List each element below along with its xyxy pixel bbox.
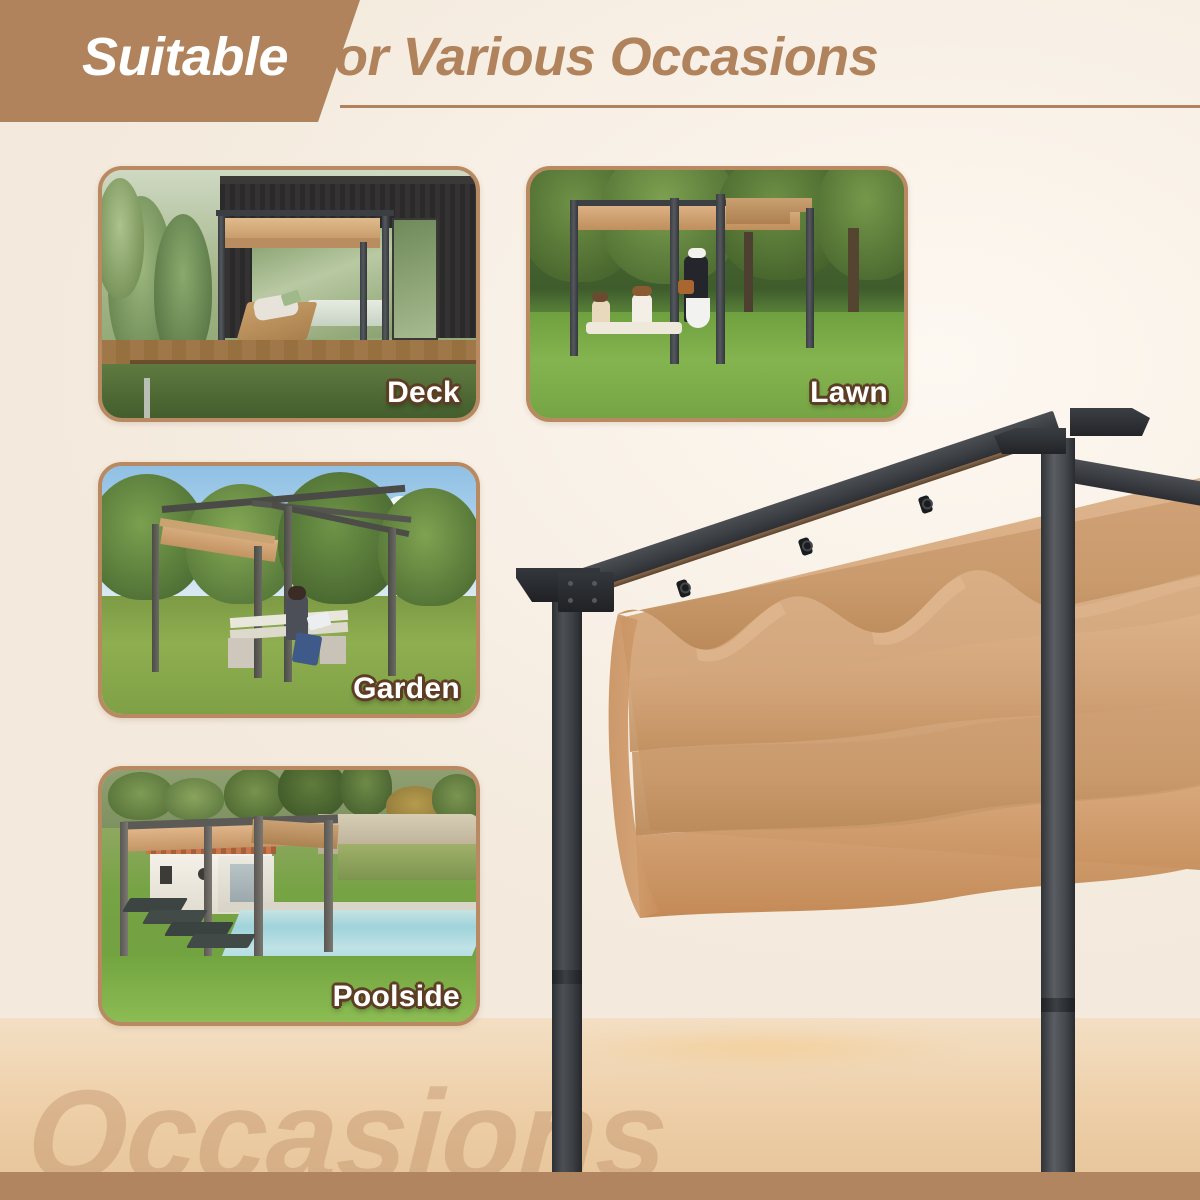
occasion-card-poolside[interactable]: Poolside — [98, 766, 480, 1026]
bottom-band — [0, 1172, 1200, 1200]
occasion-card-garden[interactable]: Garden — [98, 462, 480, 718]
promo-banner: Occasions — [0, 0, 1200, 1200]
bracket-plate — [558, 572, 614, 612]
front-post — [552, 600, 582, 1200]
page-title: Suitable For Various Occasions — [82, 26, 878, 88]
title-rest: For Various Occasions — [303, 27, 879, 87]
header-divider — [340, 105, 1200, 108]
post-collar — [552, 970, 582, 984]
header: Suitable For Various Occasions — [0, 0, 1200, 130]
post-collar — [1041, 998, 1075, 1012]
corner-bracket-top-right — [1070, 408, 1150, 436]
occasion-card-lawn[interactable]: Lawn — [526, 166, 908, 422]
card-label-lawn: Lawn — [810, 376, 888, 410]
title-highlight: Suitable — [82, 27, 288, 87]
product-pergola — [500, 400, 1200, 1100]
occasion-card-deck[interactable]: Deck — [98, 166, 480, 422]
back-post — [1041, 438, 1075, 1200]
card-label-garden: Garden — [353, 672, 460, 706]
card-label-deck: Deck — [387, 376, 460, 410]
card-label-poolside: Poolside — [333, 980, 460, 1014]
